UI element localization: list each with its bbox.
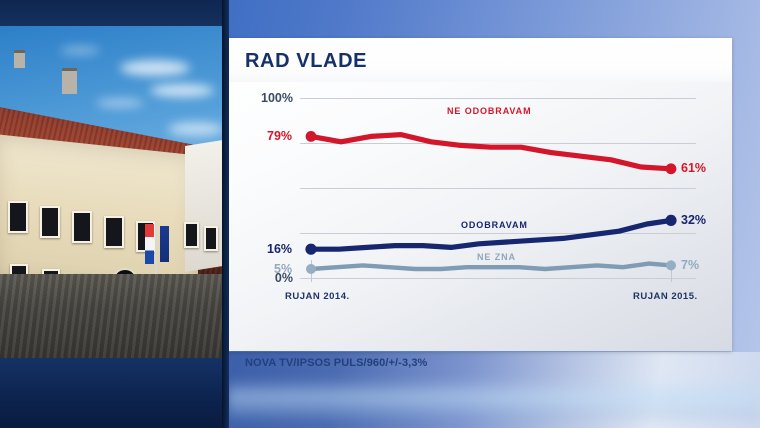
date-label-end: RUJAN 2015. — [633, 291, 698, 302]
building-photo — [0, 26, 222, 358]
cobblestone-ground — [0, 274, 222, 358]
background-left-edge — [222, 0, 229, 428]
page-title: RAD VLADE — [245, 50, 367, 73]
window — [72, 211, 92, 243]
value-approve-end: 32% — [681, 213, 706, 227]
value-dontknow-end: 7% — [681, 258, 699, 272]
chimney — [62, 68, 77, 94]
window — [104, 216, 124, 248]
cloud-icon — [150, 84, 214, 97]
photo-bottom-bar — [0, 358, 222, 428]
series-label-approve: ODOBRAVAM — [461, 220, 528, 230]
series-label-dontknow: NE ZNA — [477, 252, 516, 262]
window — [184, 222, 199, 248]
value-disapprove-start: 79% — [267, 129, 292, 143]
endpoint-dontknow-start — [306, 264, 316, 274]
endpoint-approve-start — [305, 244, 316, 255]
eu-flag — [160, 226, 169, 262]
value-approve-start: 16% — [267, 242, 292, 256]
endpoint-approve-end — [665, 215, 676, 226]
cloud-icon — [96, 98, 144, 108]
value-disapprove-end: 61% — [681, 161, 706, 175]
line-disapprove — [311, 135, 671, 169]
chart-panel: RAD VLADE 100% 0% NE ODOB — [229, 38, 732, 351]
source-attribution: NOVA TV/IPSOS PULS/960/+/-3,3% — [245, 357, 427, 369]
line-dontknow — [311, 264, 671, 269]
background-haze — [228, 378, 760, 420]
window — [8, 201, 28, 233]
value-dontknow-start: 5% — [274, 262, 292, 276]
photo-top-bar — [0, 0, 222, 26]
endpoint-disapprove-start — [306, 131, 317, 142]
cloud-icon — [120, 60, 190, 76]
building-facade-right — [185, 136, 222, 272]
croatian-flag — [145, 224, 154, 264]
trend-lines-svg — [229, 82, 732, 351]
cloud-icon — [60, 46, 100, 55]
date-label-start: RUJAN 2014. — [285, 291, 350, 302]
cloud-icon — [168, 122, 222, 136]
window — [204, 226, 218, 251]
panel-header: RAD VLADE — [229, 38, 732, 82]
chimney — [14, 50, 25, 68]
endpoint-dontknow-end — [666, 260, 676, 270]
poll-trend-chart: 100% 0% NE ODOBRAVAM ODOBRAVAM NE ZNA 79… — [229, 82, 732, 351]
series-label-disapprove: NE ODOBRAVAM — [447, 106, 531, 116]
endpoint-disapprove-end — [666, 163, 677, 174]
window — [40, 206, 60, 238]
